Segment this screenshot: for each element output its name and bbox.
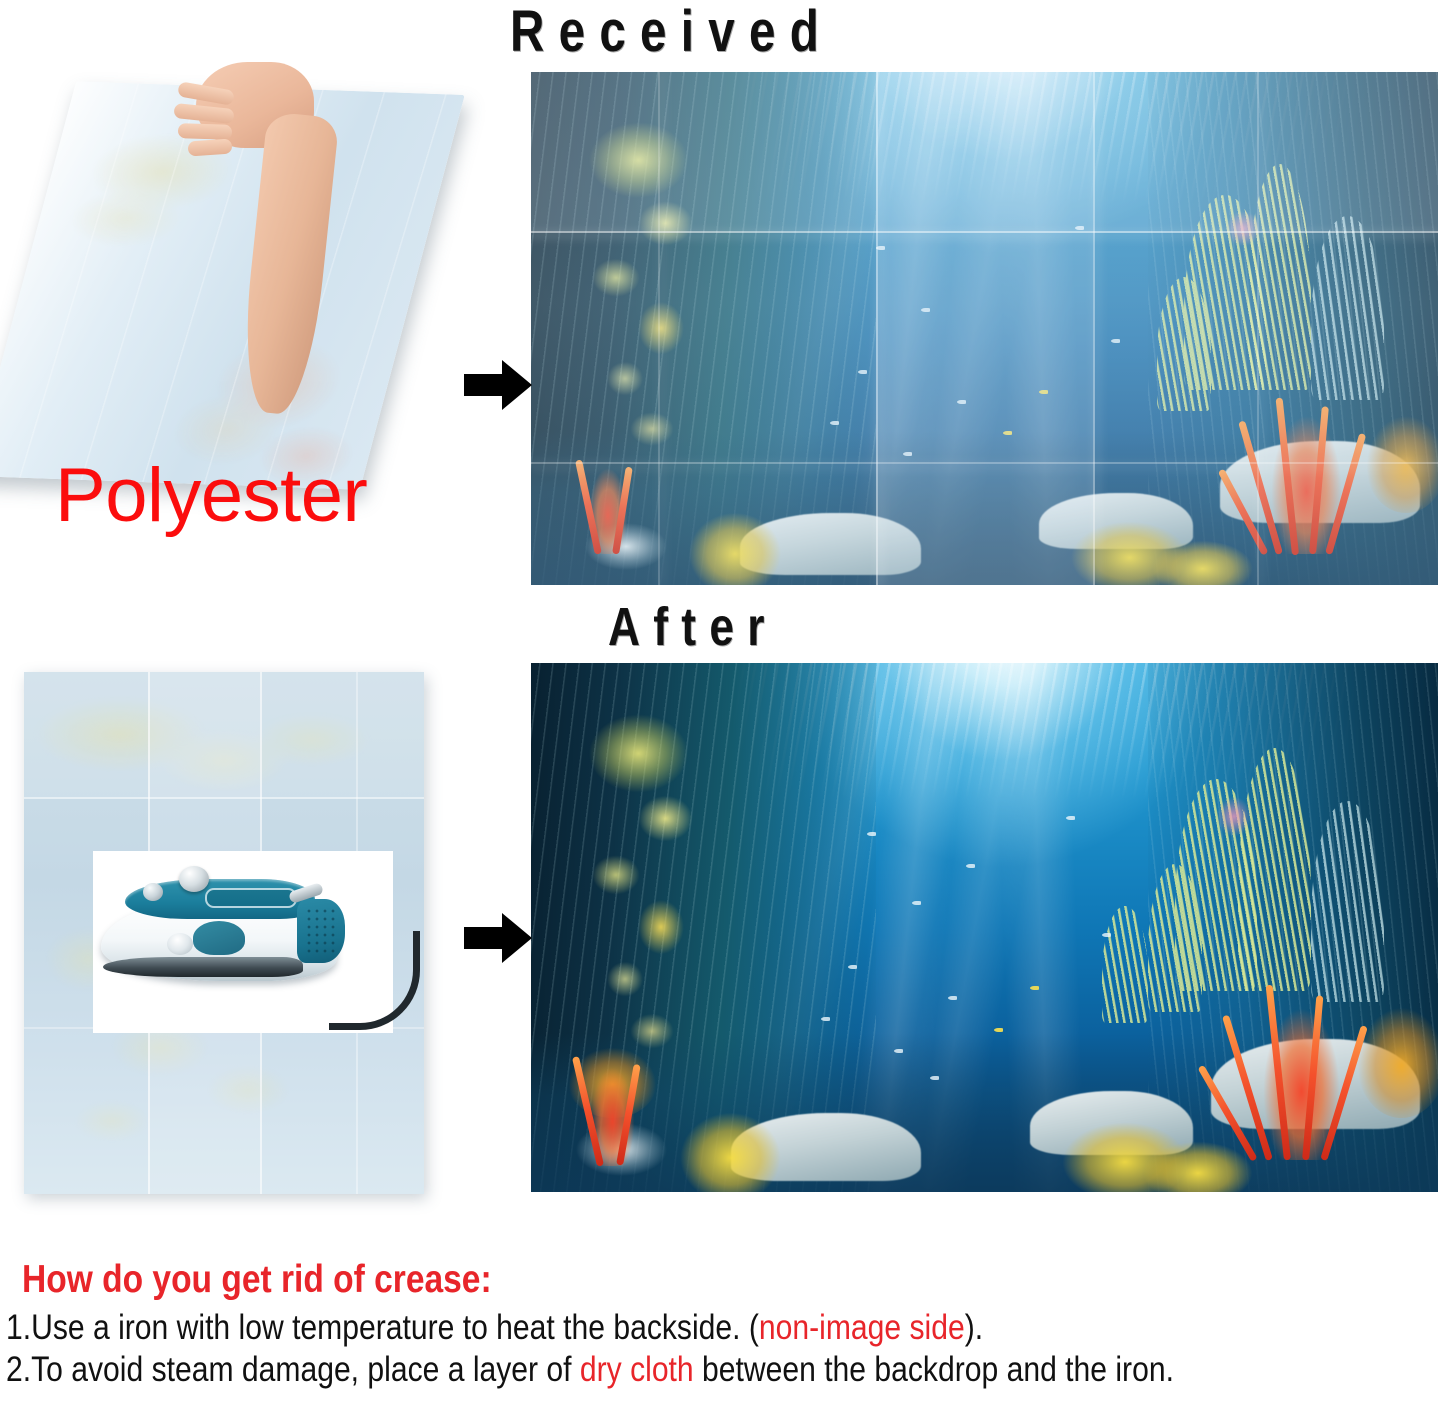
iron-soleplate (103, 957, 303, 977)
instructions-title: How do you get rid of crease: (22, 1258, 492, 1302)
finger (178, 123, 232, 140)
instruction-step-2-highlight: dry cloth (580, 1350, 694, 1389)
fish (912, 901, 921, 905)
instruction-step-1: 1.Use a iron with low temperature to hea… (6, 1308, 983, 1348)
arrow-head (502, 913, 532, 963)
yellow-fish (1030, 986, 1039, 990)
right-arrow-icon (464, 360, 534, 410)
red-sea-whip (576, 1049, 649, 1165)
page-title-received: Received (510, 0, 833, 65)
page-title-after: After (608, 596, 778, 658)
arrow-shaft (464, 927, 506, 949)
arrow-shaft (464, 374, 506, 396)
hand-on-iron (196, 62, 324, 402)
fish (966, 864, 975, 868)
iron-steam-knob (179, 866, 209, 892)
polyester-material-label: Polyester (55, 452, 367, 539)
received-reef-photo (531, 72, 1438, 585)
instruction-step-2-prefix: 2.To avoid steam damage, place a layer o… (6, 1350, 580, 1389)
yellow-fish (994, 1028, 1003, 1032)
yellow-coral (676, 1102, 785, 1192)
coral-branch (572, 1056, 604, 1166)
right-arrow-icon (464, 913, 534, 963)
fish (1102, 933, 1111, 937)
instruction-step-2: 2.To avoid steam damage, place a layer o… (6, 1350, 1174, 1390)
instruction-step-1-highlight: non-image side (759, 1308, 965, 1347)
coral-branch (1266, 985, 1291, 1161)
coral-branch (1302, 995, 1323, 1160)
arrow-head (502, 360, 532, 410)
iron-handle-slot (205, 888, 297, 908)
pink-coral (1211, 790, 1256, 843)
after-reef-photo (531, 663, 1438, 1192)
fish (948, 996, 957, 1000)
instruction-step-1-suffix: ). (965, 1308, 983, 1347)
fish (930, 1076, 939, 1080)
iron-temperature-dial (167, 933, 193, 955)
red-coral (1238, 980, 1365, 1160)
fish (848, 965, 857, 969)
instruction-step-1-prefix: 1.Use a iron with low temperature to hea… (6, 1308, 759, 1347)
iron-water-tank (193, 921, 245, 955)
iron-instruction-photo (93, 851, 393, 1033)
crease-wash-overlay (531, 72, 1438, 585)
horizontal-crease (24, 797, 424, 799)
instruction-step-2-suffix: between the backdrop and the iron. (694, 1350, 1174, 1389)
finger (188, 138, 233, 156)
iron-spray-button (143, 883, 163, 901)
coral-branch (616, 1064, 641, 1166)
fish (894, 1049, 903, 1053)
steam-iron-icon (101, 873, 351, 985)
yellow-coral (1139, 1134, 1257, 1192)
orange-coral (1356, 1002, 1438, 1118)
infographic-canvas: Received After Polyester (0, 0, 1438, 1402)
